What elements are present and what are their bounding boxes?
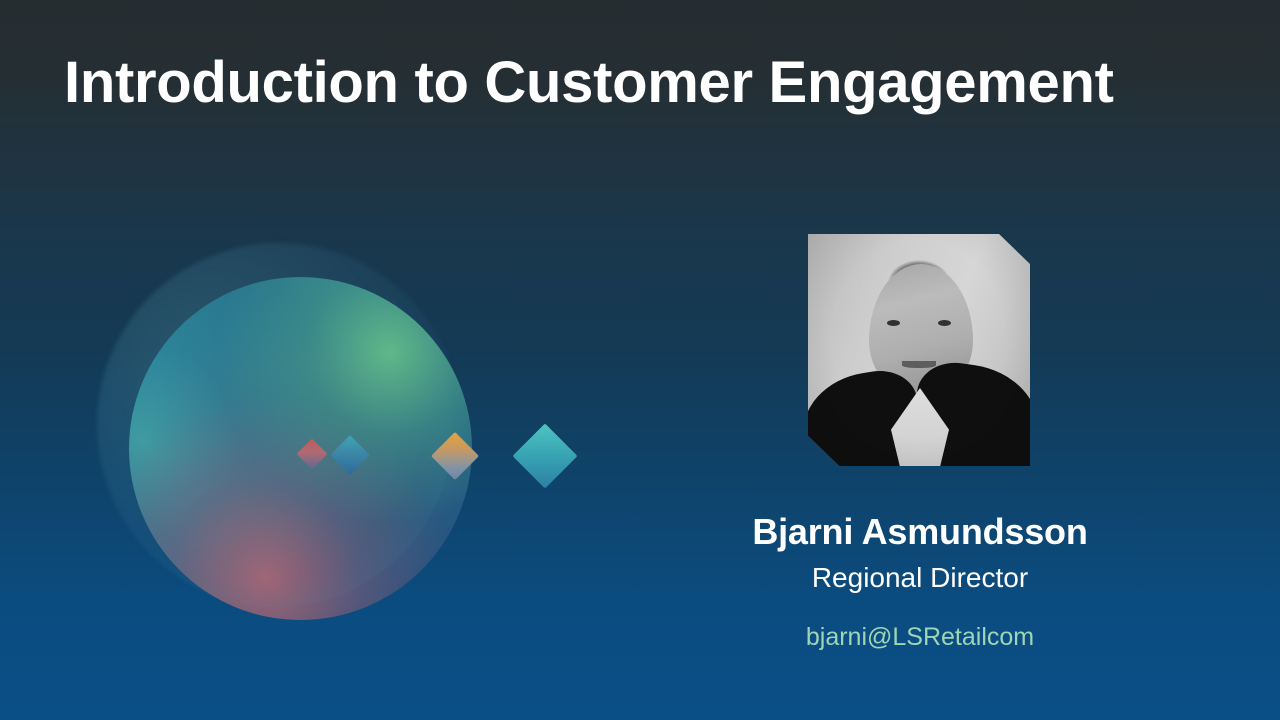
speaker-role: Regional Director (660, 561, 1180, 595)
presentation-slide: Introduction to Customer Engagement Bjar… (0, 0, 1280, 720)
diamond-gold-icon (431, 432, 479, 480)
speaker-portrait (808, 234, 1030, 466)
speaker-email: bjarni@LSRetailcom (660, 622, 1180, 652)
portrait-vignette (808, 234, 1030, 466)
speaker-block: Bjarni Asmundsson Regional Director bjar… (660, 510, 1180, 652)
slide-title: Introduction to Customer Engagement (64, 52, 1164, 115)
diamond-teal-icon (330, 435, 370, 475)
background-circle (97, 243, 461, 607)
sphere-halo-ring (100, 255, 452, 607)
diamond-cyan-icon (512, 423, 577, 488)
diamond-rose-icon (296, 438, 327, 469)
speaker-name: Bjarni Asmundsson (660, 510, 1180, 553)
gradient-sphere (129, 277, 472, 620)
